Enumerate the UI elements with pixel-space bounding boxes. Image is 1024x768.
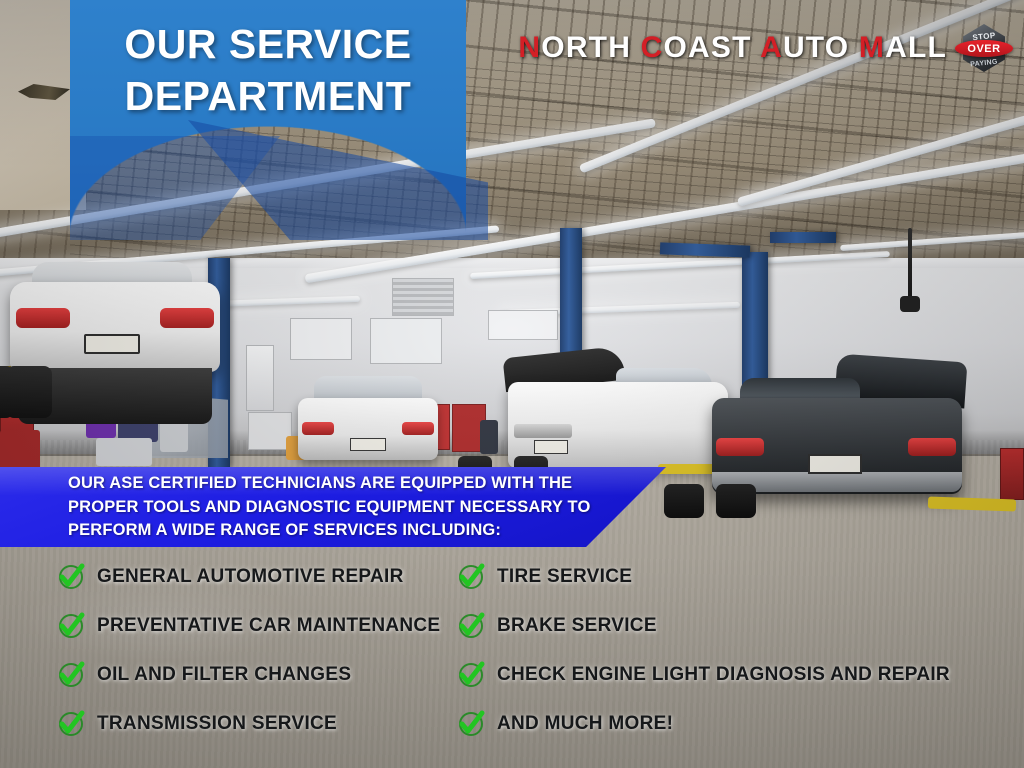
check-icon bbox=[458, 613, 484, 639]
tail-light bbox=[160, 308, 214, 328]
page-title-line1: OUR SERVICE bbox=[124, 21, 411, 67]
brand-cap-n: N bbox=[518, 31, 541, 64]
wall-panel bbox=[290, 318, 352, 360]
tail-light bbox=[402, 422, 434, 435]
check-icon bbox=[58, 564, 84, 590]
service-item[interactable]: TIRE SERVICE bbox=[458, 552, 1018, 601]
badge-mid-text: OVER bbox=[955, 40, 1013, 57]
brand-rest-mall: ALL bbox=[885, 31, 947, 64]
service-label: CHECK ENGINE LIGHT DIAGNOSIS AND REPAIR bbox=[497, 664, 950, 686]
check-icon bbox=[458, 662, 484, 688]
service-label: GENERAL AUTOMOTIVE REPAIR bbox=[97, 566, 404, 588]
brand-cap-a: A bbox=[760, 31, 783, 64]
page-title: OUR SERVICE DEPARTMENT bbox=[70, 18, 466, 122]
service-label: BRAKE SERVICE bbox=[497, 615, 657, 637]
wall-panel bbox=[370, 318, 442, 364]
lift-arm bbox=[770, 232, 836, 243]
service-item[interactable]: BRAKE SERVICE bbox=[458, 601, 1018, 650]
tail-light bbox=[514, 424, 572, 438]
check-icon bbox=[458, 564, 484, 590]
tool-chest bbox=[1000, 448, 1024, 500]
drop-hose bbox=[908, 228, 912, 302]
shop-clutter bbox=[96, 438, 152, 466]
service-label: TIRE SERVICE bbox=[497, 566, 632, 588]
services-list-area: GENERAL AUTOMOTIVE REPAIR PREVENTATIVE C… bbox=[0, 552, 1024, 752]
banner-line-1: OUR ASE CERTIFIED TECHNICIANS ARE EQUIPP… bbox=[68, 472, 628, 496]
license-plate bbox=[350, 438, 386, 451]
service-item[interactable]: OIL AND FILTER CHANGES bbox=[58, 650, 478, 699]
car-body bbox=[298, 398, 438, 460]
car-body bbox=[712, 398, 962, 494]
brand-rest-auto: UTO bbox=[783, 31, 849, 64]
service-label: AND MUCH MORE! bbox=[497, 713, 673, 735]
shop-clutter bbox=[480, 420, 498, 454]
wall-vent bbox=[392, 278, 454, 316]
brand-rest-north: ORTH bbox=[541, 31, 631, 64]
service-item[interactable]: PREVENTATIVE CAR MAINTENANCE bbox=[58, 601, 478, 650]
brand-cap-m: M bbox=[859, 31, 885, 64]
wall-panel bbox=[246, 345, 274, 411]
wheel bbox=[664, 484, 704, 518]
banner-line-3: PERFORM A WIDE RANGE OF SERVICES INCLUDI… bbox=[68, 519, 628, 543]
license-plate bbox=[84, 334, 140, 354]
banner-line-2: PROPER TOOLS AND DIAGNOSTIC EQUIPMENT NE… bbox=[68, 496, 628, 520]
services-right-column: TIRE SERVICE BRAKE SERVICE CHECK ENGINE … bbox=[458, 552, 1018, 748]
wheel bbox=[0, 366, 14, 418]
license-plate bbox=[534, 440, 568, 454]
description-banner-text: OUR ASE CERTIFIED TECHNICIANS ARE EQUIPP… bbox=[68, 472, 628, 543]
wall-panel bbox=[488, 310, 558, 340]
drop-hose-end bbox=[900, 296, 920, 312]
shop-clutter bbox=[0, 430, 40, 470]
stop-over-paying-badge: STOP OVER PAYING bbox=[956, 24, 1012, 72]
brand-wordmark: NORTH COAST AUTO MALL bbox=[518, 31, 947, 65]
service-item[interactable]: AND MUCH MORE! bbox=[458, 699, 1018, 748]
car-body bbox=[10, 282, 220, 372]
service-label: OIL AND FILTER CHANGES bbox=[97, 664, 351, 686]
tail-light bbox=[716, 438, 764, 456]
service-item[interactable]: CHECK ENGINE LIGHT DIAGNOSIS AND REPAIR bbox=[458, 650, 1018, 699]
service-department-banner: OUR SERVICE DEPARTMENT NORTH COAST AUTO … bbox=[0, 0, 1024, 768]
tail-light bbox=[16, 308, 70, 328]
check-icon bbox=[458, 711, 484, 737]
service-label: PREVENTATIVE CAR MAINTENANCE bbox=[97, 615, 440, 637]
check-icon bbox=[58, 662, 84, 688]
services-left-column: GENERAL AUTOMOTIVE REPAIR PREVENTATIVE C… bbox=[58, 552, 478, 748]
check-icon bbox=[58, 711, 84, 737]
wheel bbox=[716, 484, 756, 518]
service-item[interactable]: TRANSMISSION SERVICE bbox=[58, 699, 478, 748]
brand-cap-c: C bbox=[641, 31, 664, 64]
service-label: TRANSMISSION SERVICE bbox=[97, 713, 337, 735]
page-title-line2: DEPARTMENT bbox=[70, 70, 466, 122]
brand-rest-coast: OAST bbox=[664, 31, 752, 64]
service-item[interactable]: GENERAL AUTOMOTIVE REPAIR bbox=[58, 552, 478, 601]
brand-logo[interactable]: NORTH COAST AUTO MALL STOP OVER PAYING bbox=[518, 26, 1012, 70]
license-plate bbox=[808, 454, 862, 474]
check-icon bbox=[58, 613, 84, 639]
tail-light bbox=[302, 422, 334, 435]
tail-light bbox=[908, 438, 956, 456]
